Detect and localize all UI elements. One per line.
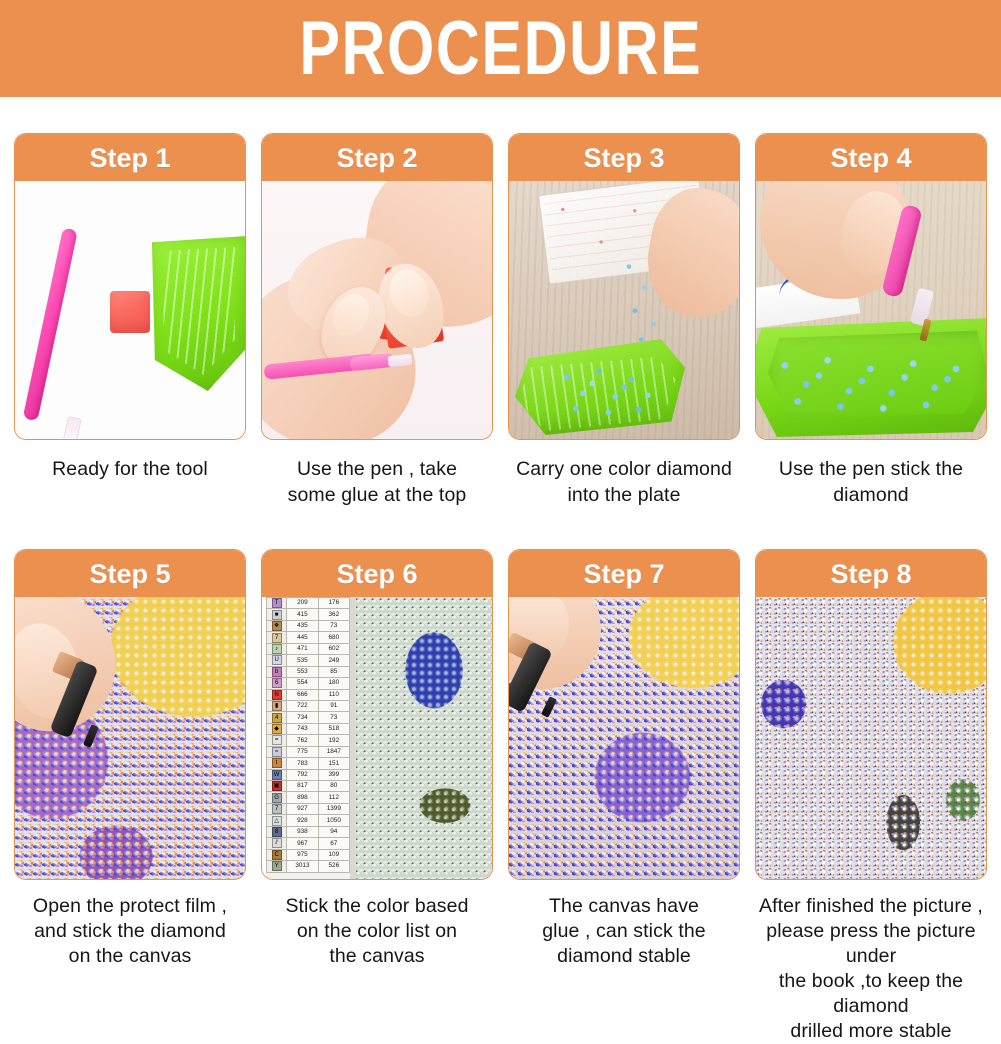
- color-chart-row: U535249: [267, 655, 350, 666]
- color-chart-symbol-cell: ≈: [267, 746, 287, 757]
- step-5-header-label: Step 5: [89, 559, 170, 589]
- color-swatch-icon: ≈: [272, 747, 282, 757]
- step-6-caption: Stick the color based on the color list …: [259, 894, 495, 969]
- step-5-header: Step 5: [15, 550, 245, 597]
- color-chart-symbol-cell: ⫽: [267, 838, 287, 849]
- color-chart-code-cell: 535: [287, 655, 318, 666]
- step-4-header-label: Step 4: [830, 143, 911, 173]
- step-1-photo: [15, 181, 245, 439]
- step-card-3: Step 3 Carry one color diamond into the …: [508, 133, 740, 508]
- color-chart-row: Y3013526: [267, 861, 350, 872]
- color-swatch-icon: ⫽: [272, 838, 282, 848]
- step-7-caption: The canvas have glue , can stick the dia…: [506, 894, 742, 969]
- color-chart-count-cell: 399: [318, 769, 349, 780]
- step-7-header: Step 7: [509, 550, 739, 597]
- color-chart-count-cell: 73: [318, 620, 349, 631]
- color-chart-symbol-cell: ■: [267, 609, 287, 620]
- color-chart-count-cell: 602: [318, 643, 349, 654]
- step-4-card-frame: Step 4: [755, 133, 987, 440]
- color-chart-code-cell: 938: [287, 826, 318, 837]
- color-chart-row: b55385: [267, 666, 350, 677]
- step-card-7: Step 7 The canvas have glue , can stick …: [508, 549, 740, 1044]
- blue-diamonds-icon: [772, 331, 986, 417]
- step-3-header: Step 3: [509, 134, 739, 181]
- color-chart-row: ♪471602: [267, 643, 350, 654]
- color-chart-code-cell: 445: [287, 632, 318, 643]
- step-3-caption: Carry one color diamond into the plate: [506, 456, 742, 508]
- color-chart-code-cell: 792: [287, 769, 318, 780]
- color-chart-table: T209176■415362❖435737445680♪471602U53524…: [266, 597, 350, 873]
- color-chart-code-cell: 209: [287, 598, 318, 609]
- color-chart-count-cell: 362: [318, 609, 349, 620]
- color-chart-symbol-cell: N: [267, 689, 287, 700]
- page-title: PROCEDURE: [299, 9, 702, 89]
- color-chart-symbol-cell: 4: [267, 712, 287, 723]
- color-chart-row: 79271399: [267, 803, 350, 814]
- color-swatch-icon: ♪: [272, 644, 282, 654]
- color-chart-symbol-cell: Y: [267, 861, 287, 872]
- color-chart-count-cell: 680: [318, 632, 349, 643]
- step-5-photo: [15, 597, 245, 879]
- color-chart-row: ■415362: [267, 609, 350, 620]
- blue-diamonds-icon: [555, 357, 671, 423]
- step-2-card-frame: Step 2: [261, 133, 493, 440]
- color-swatch-icon: T: [272, 598, 282, 608]
- color-chart-code-cell: 435: [287, 620, 318, 631]
- color-chart-code-cell: 666: [287, 689, 318, 700]
- color-chart-symbol-cell: ❖: [267, 620, 287, 631]
- color-chart-count-cell: 180: [318, 678, 349, 689]
- color-swatch-icon: t: [272, 758, 282, 768]
- color-swatch-icon: W: [272, 770, 282, 780]
- color-swatch-icon: ■: [272, 610, 282, 620]
- color-chart-count-cell: 109: [318, 849, 349, 860]
- color-chart-row: N666110: [267, 689, 350, 700]
- step-1-caption: Ready for the tool: [12, 456, 248, 482]
- color-chart-symbol-cell: ▣: [267, 781, 287, 792]
- color-chart-count-cell: 85: [318, 666, 349, 677]
- step-8-header: Step 8: [756, 550, 986, 597]
- color-chart-count-cell: 1399: [318, 803, 349, 814]
- color-chart-body: T209176■415362❖435737445680♪471602U53524…: [267, 598, 350, 873]
- glue-square-icon: [110, 291, 150, 333]
- color-chart-row: ▮72291: [267, 700, 350, 711]
- color-chart-code-cell: 553: [287, 666, 318, 677]
- color-chart-symbol-cell: U: [267, 655, 287, 666]
- finished-diamond-picture-icon: [756, 597, 986, 879]
- color-swatch-icon: N: [272, 690, 282, 700]
- step-card-8: Step 8 After finished the picture , plea…: [755, 549, 987, 1044]
- color-swatch-icon: 7: [272, 804, 282, 814]
- step-7-photo: [509, 597, 739, 879]
- steps-row-2: Step 5 Open the protect film , and stick…: [0, 549, 1001, 1044]
- step-5-card-frame: Step 5: [14, 549, 246, 880]
- step-2-header-label: Step 2: [336, 143, 417, 173]
- color-chart-symbol-cell: C: [267, 849, 287, 860]
- color-chart-symbol-cell: =: [267, 735, 287, 746]
- color-chart-count-cell: 176: [318, 598, 349, 609]
- color-chart-symbol-cell: ♪: [267, 643, 287, 654]
- page-header-banner: PROCEDURE: [0, 0, 1001, 97]
- color-chart-row: ▣81780: [267, 781, 350, 792]
- color-chart-symbol-cell: 7: [267, 803, 287, 814]
- color-chart-symbol-cell: ◆: [267, 723, 287, 734]
- color-swatch-icon: ▮: [272, 701, 282, 711]
- color-chart-code-cell: 783: [287, 758, 318, 769]
- color-chart-row: W792399: [267, 769, 350, 780]
- color-chart-code-cell: 722: [287, 700, 318, 711]
- step-6-header: Step 6: [262, 550, 492, 597]
- diamond-canvas-icon: [354, 597, 492, 879]
- color-chart-code-cell: 471: [287, 643, 318, 654]
- color-swatch-icon: ▣: [272, 781, 282, 791]
- color-swatch-icon: G: [272, 793, 282, 803]
- color-chart-symbol-cell: 6: [267, 678, 287, 689]
- color-chart-symbol-cell: 8: [267, 826, 287, 837]
- step-1-header: Step 1: [15, 134, 245, 181]
- step-6-card-frame: Step 6 T209176■415362❖435737445680♪47160…: [261, 549, 493, 880]
- color-chart-symbol-cell: G: [267, 792, 287, 803]
- color-chart-row: T209176: [267, 598, 350, 609]
- step-3-header-label: Step 3: [583, 143, 664, 173]
- color-chart-row: t783151: [267, 758, 350, 769]
- step-4-header: Step 4: [756, 134, 986, 181]
- color-chart-row: 893894: [267, 826, 350, 837]
- color-chart-code-cell: 762: [287, 735, 318, 746]
- step-2-header: Step 2: [262, 134, 492, 181]
- color-chart-count-cell: 151: [318, 758, 349, 769]
- step-card-1: Step 1 Ready for the tool: [14, 133, 246, 508]
- color-chart-code-cell: 554: [287, 678, 318, 689]
- color-chart: T209176■415362❖435737445680♪471602U53524…: [266, 597, 350, 879]
- color-swatch-icon: =: [272, 735, 282, 745]
- color-chart-code-cell: 898: [287, 792, 318, 803]
- color-swatch-icon: U: [272, 655, 282, 665]
- color-chart-row: 473473: [267, 712, 350, 723]
- pink-pen-icon: [23, 227, 78, 421]
- color-chart-code-cell: 975: [287, 849, 318, 860]
- color-chart-count-cell: 192: [318, 735, 349, 746]
- color-chart-symbol-cell: T: [267, 598, 287, 609]
- color-chart-code-cell: 817: [287, 781, 318, 792]
- step-4-caption: Use the pen stick the diamond: [753, 456, 989, 508]
- color-swatch-icon: 6: [272, 678, 282, 688]
- color-chart-count-cell: 249: [318, 655, 349, 666]
- color-chart-code-cell: 734: [287, 712, 318, 723]
- step-8-header-label: Step 8: [830, 559, 911, 589]
- step-6-photo: T209176■415362❖435737445680♪471602U53524…: [262, 597, 492, 879]
- color-swatch-icon: ◆: [272, 724, 282, 734]
- color-chart-row: 7445680: [267, 632, 350, 643]
- step-2-caption: Use the pen , take some glue at the top: [259, 456, 495, 508]
- color-chart-code-cell: 928: [287, 815, 318, 826]
- step-card-4: Step 4 Use the pen stick the diamond: [755, 133, 987, 508]
- color-chart-count-cell: 518: [318, 723, 349, 734]
- color-chart-row: ⫽96767: [267, 838, 350, 849]
- color-chart-row: ❖43573: [267, 620, 350, 631]
- step-1-header-label: Step 1: [89, 143, 170, 173]
- color-chart-code-cell: 415: [287, 609, 318, 620]
- color-chart-symbol-cell: t: [267, 758, 287, 769]
- step-8-caption: After finished the picture , please pres…: [753, 894, 989, 1044]
- color-chart-row: ≈7751847: [267, 746, 350, 757]
- color-chart-code-cell: 3013: [287, 861, 318, 872]
- color-chart-count-cell: 1050: [318, 815, 349, 826]
- color-chart-count-cell: 91: [318, 700, 349, 711]
- color-chart-row: △9281050: [267, 815, 350, 826]
- color-swatch-icon: △: [272, 816, 282, 826]
- step-8-card-frame: Step 8: [755, 549, 987, 880]
- step-card-2: Step 2 Use the pen , take so: [261, 133, 493, 508]
- color-chart-count-cell: 67: [318, 838, 349, 849]
- color-chart-row: G898112: [267, 792, 350, 803]
- color-chart-row: ◆743518: [267, 723, 350, 734]
- color-chart-count-cell: 94: [318, 826, 349, 837]
- color-chart-code-cell: 927: [287, 803, 318, 814]
- step-card-6: Step 6 T209176■415362❖435737445680♪47160…: [261, 549, 493, 1044]
- color-chart-count-cell: 80: [318, 781, 349, 792]
- color-chart-row: 6554180: [267, 678, 350, 689]
- color-swatch-icon: 7: [272, 633, 282, 643]
- step-6-header-label: Step 6: [336, 559, 417, 589]
- color-swatch-icon: ❖: [272, 621, 282, 631]
- color-swatch-icon: 4: [272, 713, 282, 723]
- step-3-photo: [509, 181, 739, 439]
- color-chart-code-cell: 967: [287, 838, 318, 849]
- step-8-photo: [756, 597, 986, 879]
- steps-row-1: Step 1 Ready for the tool Step 2: [0, 133, 1001, 508]
- color-chart-row: =762192: [267, 735, 350, 746]
- color-chart-count-cell: 110: [318, 689, 349, 700]
- step-4-photo: [756, 181, 986, 439]
- color-chart-symbol-cell: ▮: [267, 700, 287, 711]
- color-chart-row: C975109: [267, 849, 350, 860]
- color-chart-count-cell: 1847: [318, 746, 349, 757]
- color-chart-count-cell: 526: [318, 861, 349, 872]
- color-chart-symbol-cell: b: [267, 666, 287, 677]
- step-5-caption: Open the protect film , and stick the di…: [12, 894, 248, 969]
- color-chart-code-cell: 743: [287, 723, 318, 734]
- color-chart-symbol-cell: △: [267, 815, 287, 826]
- step-2-photo: [262, 181, 492, 439]
- color-chart-count-cell: 73: [318, 712, 349, 723]
- color-chart-symbol-cell: W: [267, 769, 287, 780]
- color-swatch-icon: 8: [272, 827, 282, 837]
- color-swatch-icon: Y: [272, 861, 282, 871]
- step-1-card-frame: Step 1: [14, 133, 246, 440]
- step-7-card-frame: Step 7: [508, 549, 740, 880]
- canvas-edge-icon: [350, 597, 356, 879]
- falling-diamonds-icon: [617, 257, 677, 353]
- pen-tip-icon: [60, 416, 82, 439]
- color-swatch-icon: b: [272, 667, 282, 677]
- step-3-card-frame: Step 3: [508, 133, 740, 440]
- color-chart-code-cell: 775: [287, 746, 318, 757]
- step-card-5: Step 5 Open the protect film , and stick…: [14, 549, 246, 1044]
- step-7-header-label: Step 7: [583, 559, 664, 589]
- color-chart-count-cell: 112: [318, 792, 349, 803]
- color-chart-symbol-cell: 7: [267, 632, 287, 643]
- steps-grid: Step 1 Ready for the tool Step 2: [0, 133, 1001, 1044]
- color-swatch-icon: C: [272, 850, 282, 860]
